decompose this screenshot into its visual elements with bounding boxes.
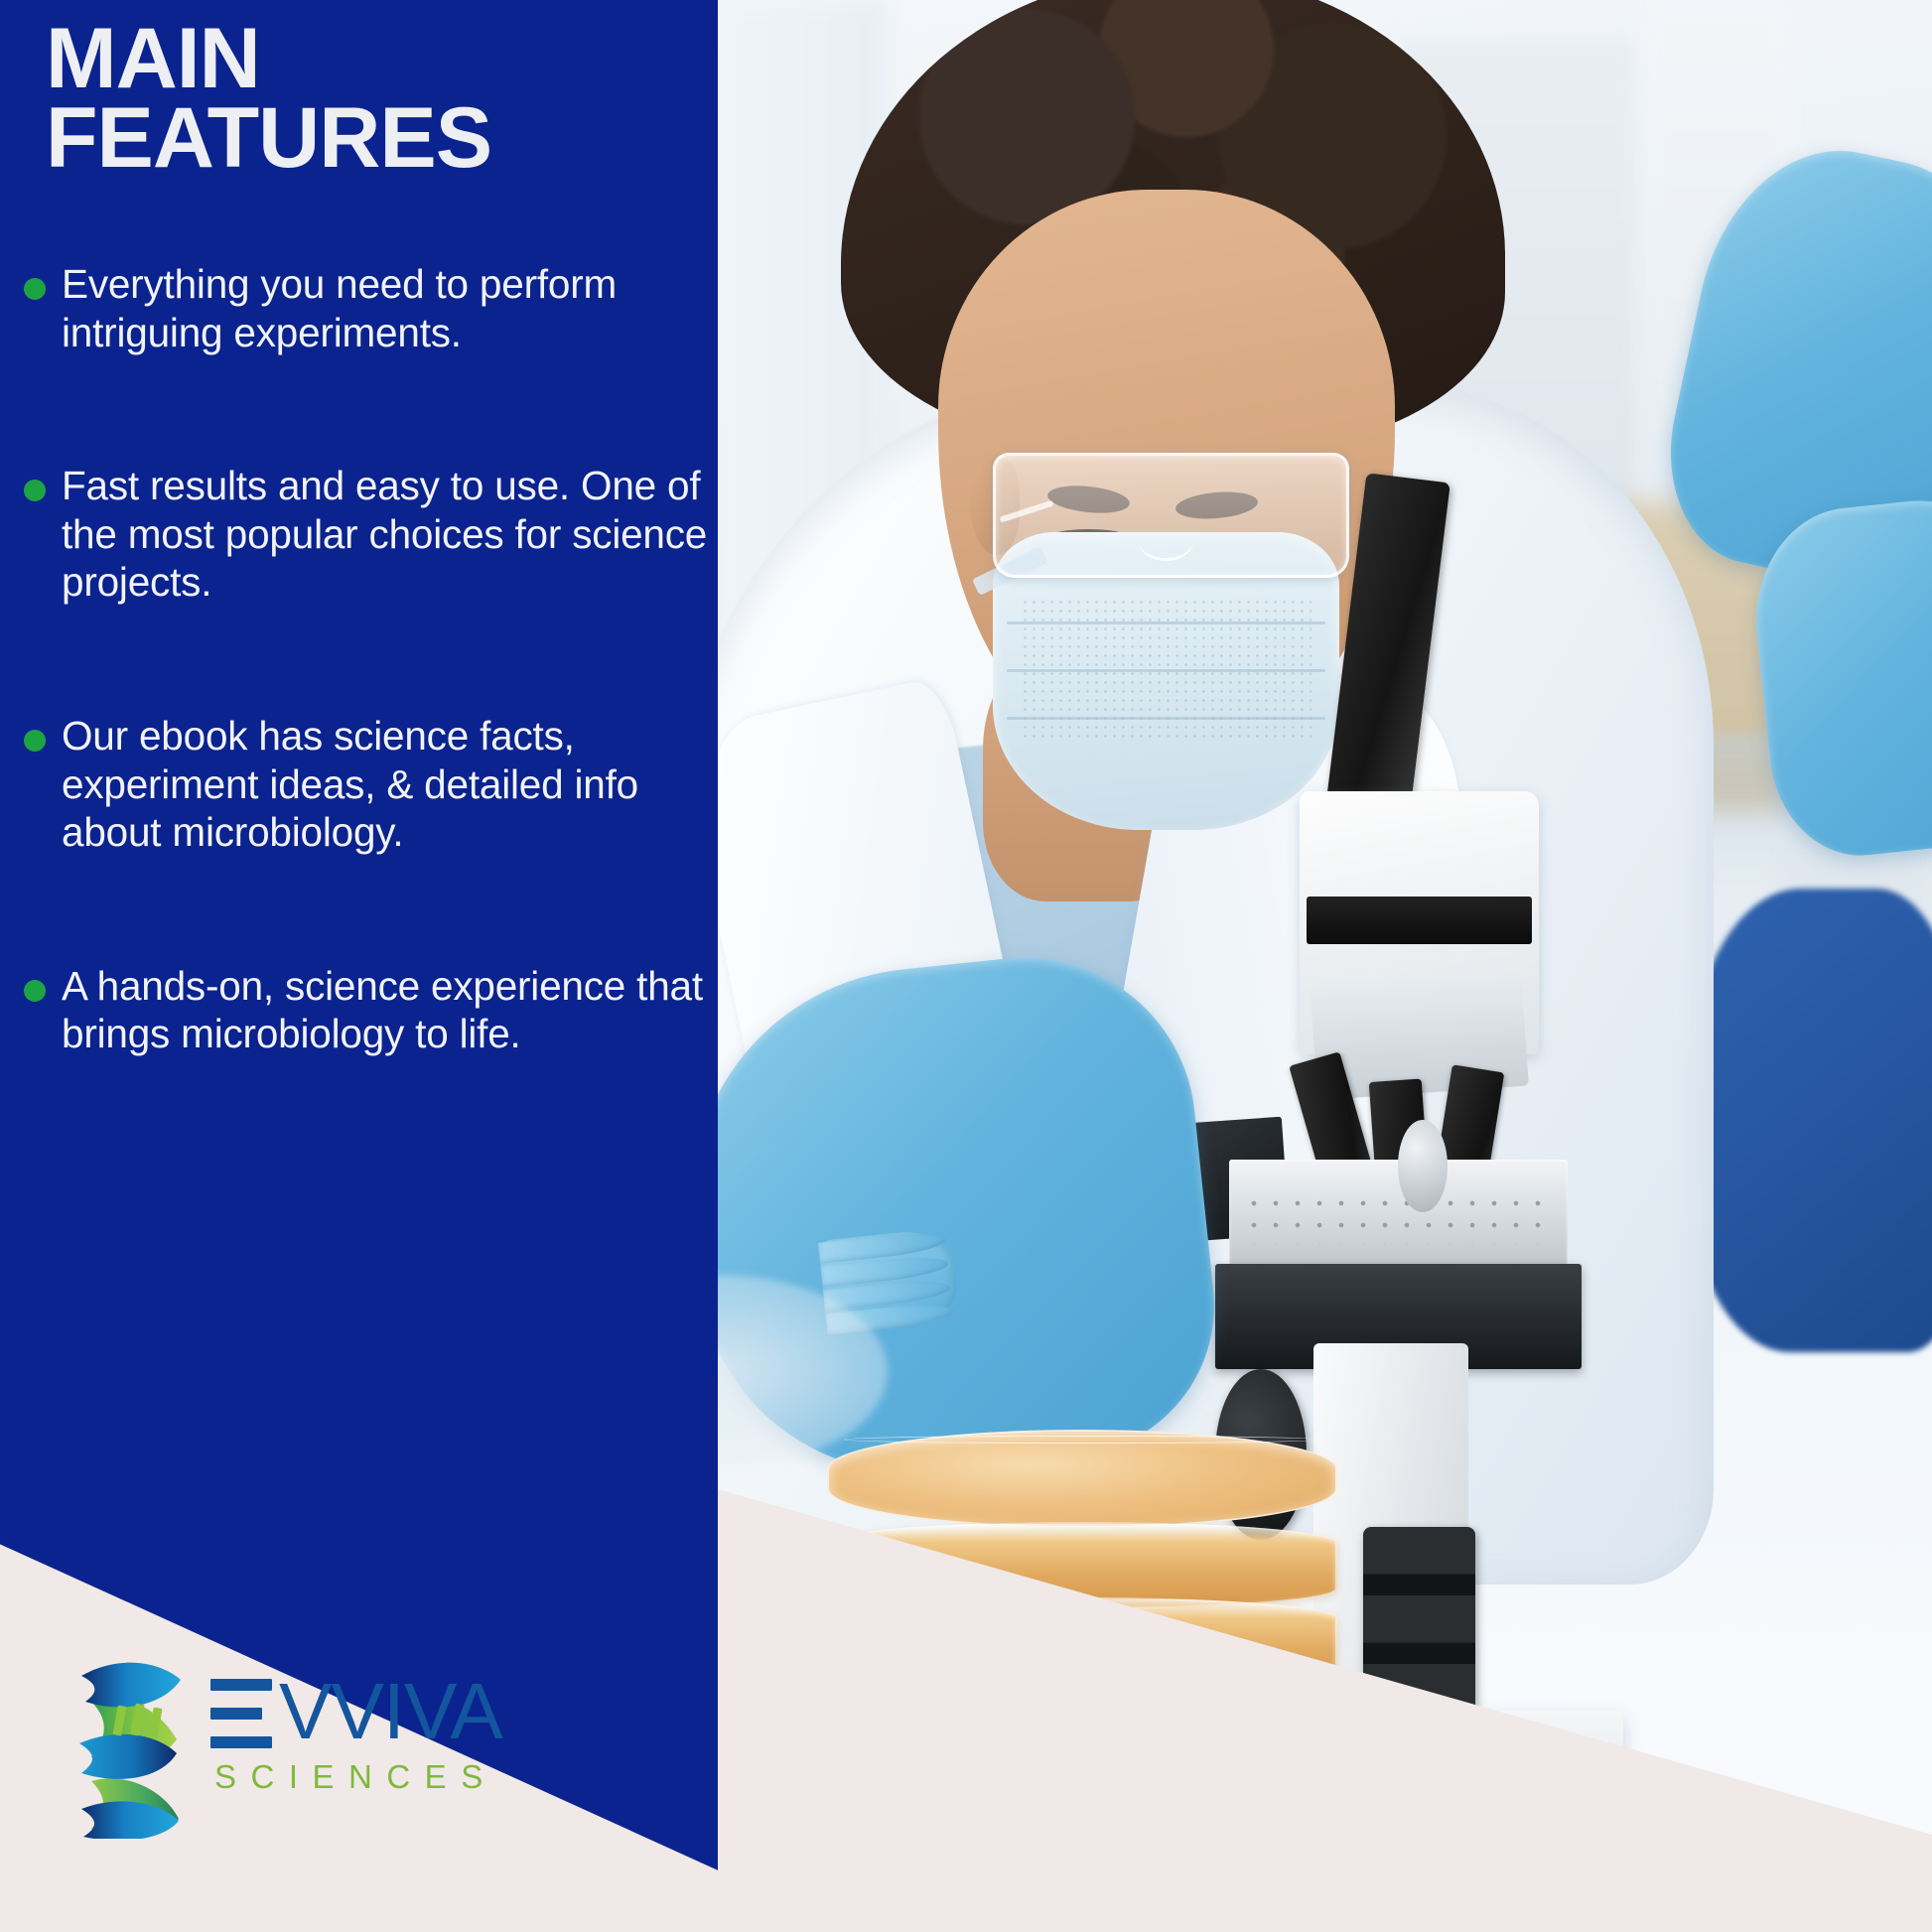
brand-letter-e-glyph — [210, 1679, 272, 1748]
features-list: Everything you need to perform intriguin… — [24, 260, 719, 1164]
stage-screws — [1243, 1192, 1553, 1245]
bullet-dot-icon — [24, 980, 46, 1002]
list-item: A hands-on, science experience that brin… — [24, 962, 719, 1058]
feature-text: Fast results and easy to use. One of the… — [62, 462, 712, 607]
bullet-dot-icon — [24, 278, 46, 300]
goggle-temple-arm — [1000, 499, 1055, 522]
stage-adjust-knob — [1398, 1120, 1448, 1212]
infographic-canvas: MAIN FEATURES Everything you need to per… — [0, 0, 1932, 1932]
brand-name: VVIVA — [210, 1676, 502, 1748]
petri-dish-rim — [844, 1436, 1319, 1445]
feature-text: Everything you need to perform intriguin… — [62, 260, 712, 356]
brand-name-text: VVIVA — [279, 1679, 502, 1744]
brand-logo[interactable]: VVIVA SCIENCES — [58, 1630, 574, 1841]
list-item: Our ebook has science facts, experiment … — [24, 712, 719, 857]
feature-text: Our ebook has science facts, experiment … — [62, 712, 712, 857]
page-title-line1: MAIN — [46, 20, 491, 99]
list-item: Fast results and easy to use. One of the… — [24, 462, 719, 607]
brand-tagline: SCIENCES — [214, 1758, 502, 1796]
page-title: MAIN FEATURES — [46, 20, 491, 179]
microscope-head-band — [1307, 897, 1532, 944]
page-title-line2: FEATURES — [46, 99, 491, 179]
petri-dish-top — [827, 1430, 1337, 1528]
list-item: Everything you need to perform intriguin… — [24, 260, 719, 356]
feature-text: A hands-on, science experience that brin… — [62, 962, 712, 1058]
brand-wordmark: VVIVA SCIENCES — [210, 1676, 502, 1796]
dna-helix-icon — [58, 1632, 189, 1839]
bullet-dot-icon — [24, 730, 46, 752]
bullet-dot-icon — [24, 480, 46, 501]
